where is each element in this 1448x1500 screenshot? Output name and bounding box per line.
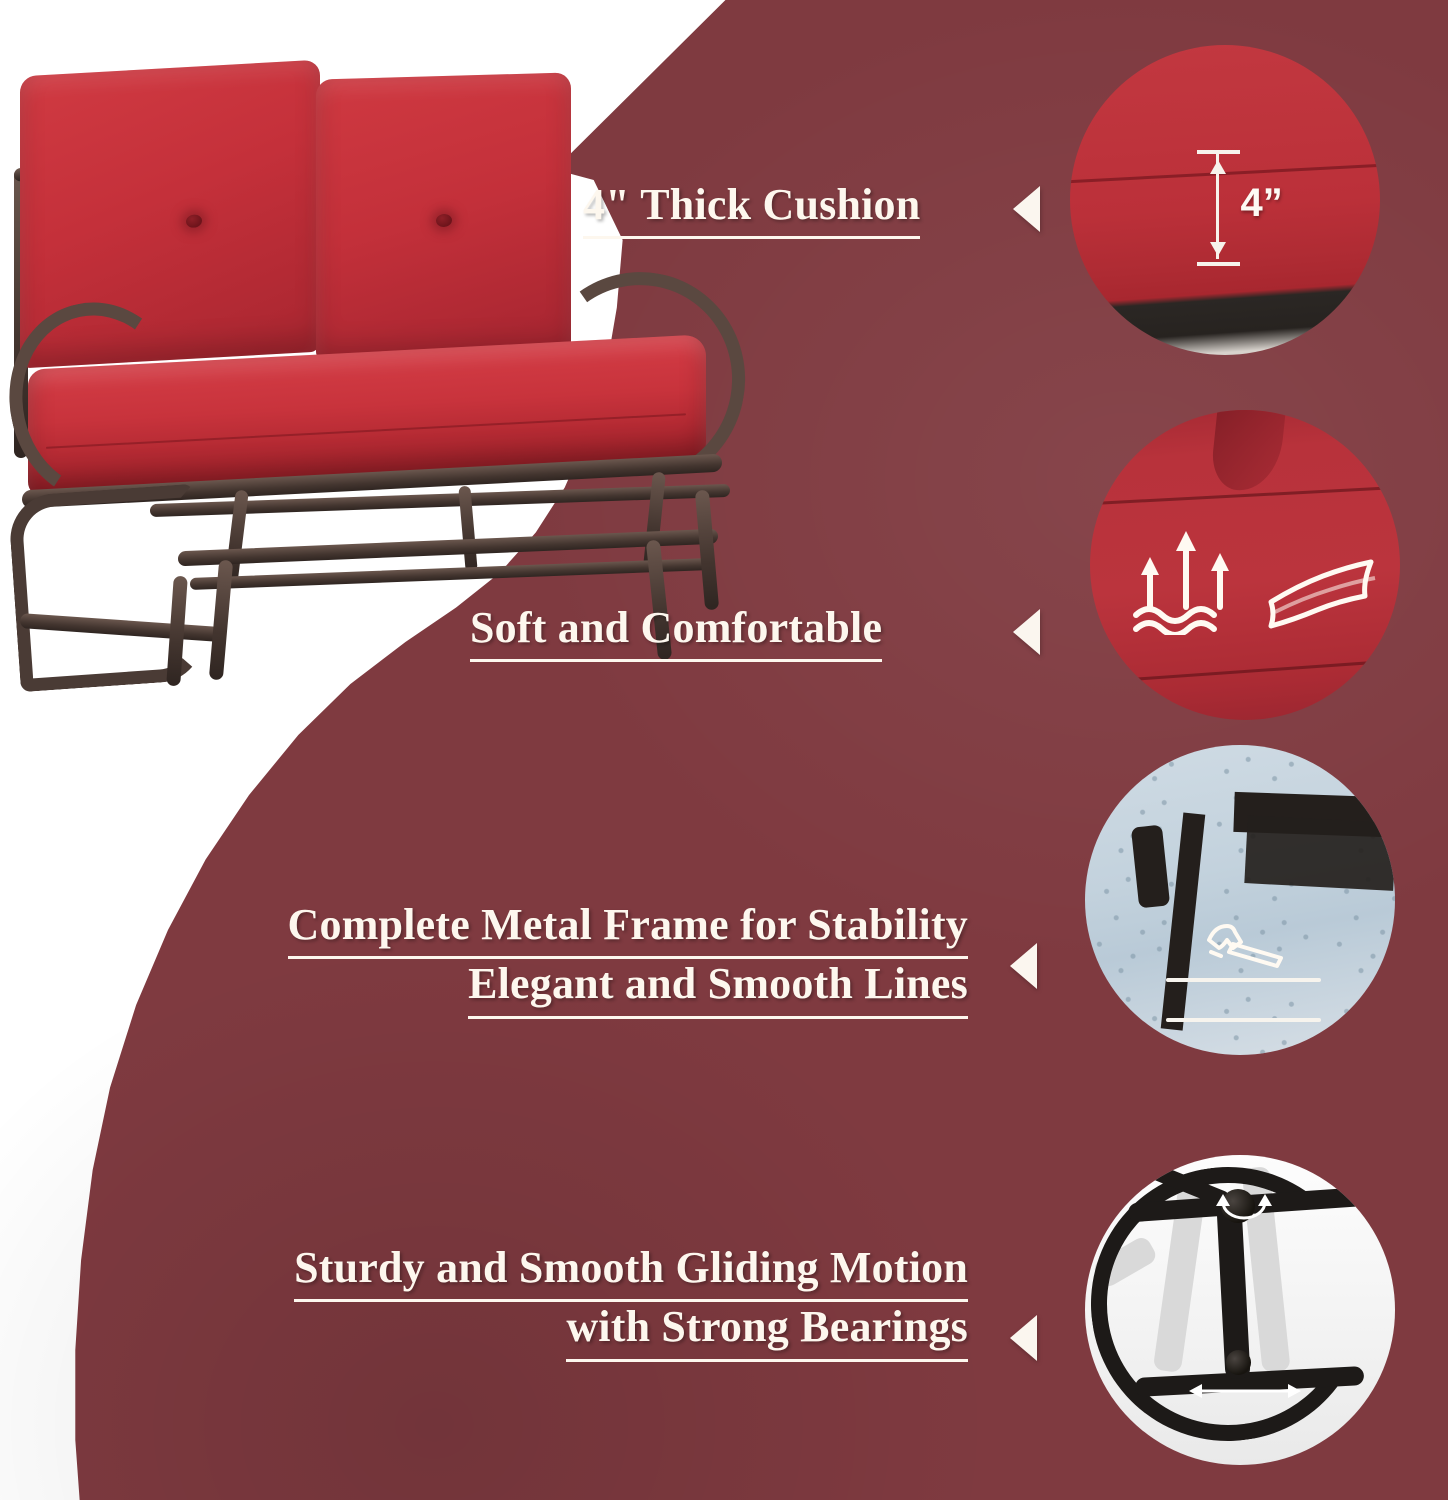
- detail-photo-glider-bearing: [1085, 1155, 1395, 1465]
- feature-label-thick-cushion: 4" Thick Cushion: [583, 180, 920, 239]
- detail-photo-metal-frame-joint: [1085, 745, 1395, 1055]
- product-infographic: 4”: [0, 0, 1448, 1500]
- smooth-line-top: [1166, 978, 1321, 982]
- product-photo-glider-loveseat: [0, 20, 790, 700]
- feature-label-line: with Strong Bearings: [566, 1302, 968, 1361]
- dimension-cap-top: [1197, 150, 1240, 154]
- detail-photo-cushion-fabric: [1090, 410, 1400, 720]
- feature-label-line: Soft and Comfortable: [470, 603, 882, 662]
- pointer-triangle-thick-cushion: [1013, 186, 1040, 232]
- glider-base-cross-bar-lower: [190, 558, 710, 590]
- cushion-tuft-button: [436, 214, 452, 227]
- back-cushion-right: [316, 72, 571, 361]
- detail-photo-cushion-thickness: 4”: [1070, 45, 1380, 355]
- dimension-arrow-down-icon: [1210, 242, 1226, 256]
- bearing-hub-bottom: [1226, 1350, 1251, 1375]
- horizontal-double-arrow-icon: [1187, 1380, 1303, 1402]
- dimension-arrow-up-icon: [1210, 160, 1226, 174]
- feature-label-gliding-motion: Sturdy and Smooth Gliding Motion with St…: [150, 1243, 968, 1362]
- feature-label-line: Complete Metal Frame for Stability: [288, 900, 968, 959]
- soft-fabric-sheet-icon: [1261, 546, 1381, 636]
- feature-label-line: Elegant and Smooth Lines: [468, 959, 968, 1018]
- dimension-cap-bottom: [1197, 262, 1240, 266]
- pointer-triangle-gliding-motion: [1010, 1315, 1037, 1361]
- frame-edge-dark: [1245, 816, 1395, 892]
- cushion-closeup-image: [1070, 45, 1380, 355]
- hammer-icon: [1203, 922, 1289, 974]
- feature-label-line: 4" Thick Cushion: [583, 180, 920, 239]
- rotation-arrow-icon: [1215, 1186, 1273, 1230]
- dimension-value-label: 4”: [1241, 181, 1283, 226]
- pointer-triangle-soft-comfortable: [1013, 609, 1040, 655]
- glider-base-leg-right-rear: [695, 490, 719, 611]
- pointer-triangle-metal-frame: [1010, 943, 1037, 989]
- breathability-arrows-waves-icon: [1130, 515, 1242, 635]
- cushion-tuft-button: [186, 214, 202, 228]
- smooth-line-bottom: [1166, 1018, 1321, 1022]
- feature-label-metal-frame: Complete Metal Frame for Stability Elega…: [163, 900, 968, 1019]
- feature-label-soft-comfortable: Soft and Comfortable: [470, 603, 882, 662]
- feature-label-line: Sturdy and Smooth Gliding Motion: [294, 1243, 968, 1302]
